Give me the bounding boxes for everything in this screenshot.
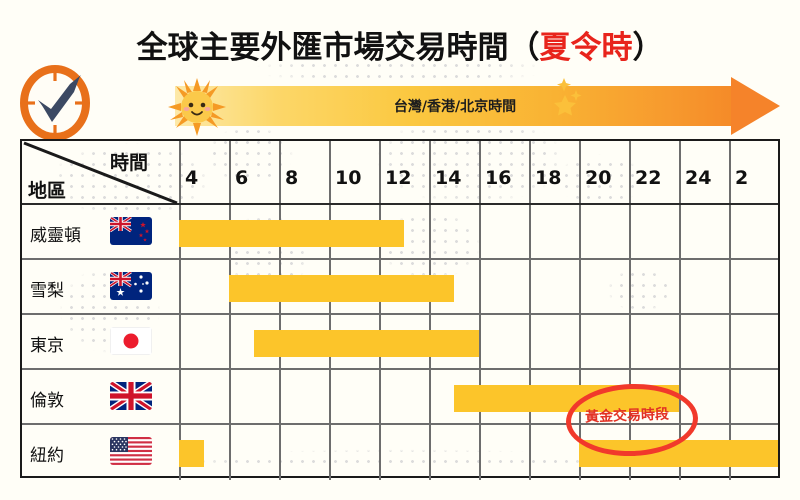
grid-vline <box>179 141 181 480</box>
hour-label-6: 6 <box>235 167 248 189</box>
grid-hline <box>22 368 778 370</box>
session-bar-tokyo <box>254 330 479 357</box>
grid-vline <box>329 141 331 480</box>
grid-hline <box>22 313 778 315</box>
infographic-root: 全球主要外匯市場交易時間（夏令時） 台灣/香港/北京時間 <box>0 0 800 500</box>
moon-icon <box>520 76 582 132</box>
row-label-wellington: 威靈頓 <box>30 221 81 246</box>
page-title-highlight: 夏令時 <box>540 30 633 66</box>
row-label-tokyo: 東京 <box>30 331 64 356</box>
grid-vline <box>279 141 281 480</box>
hour-label-18: 18 <box>535 167 561 189</box>
session-bar-wellington <box>179 220 404 247</box>
session-bar-sydney <box>229 275 454 302</box>
hour-label-24: 24 <box>685 167 711 189</box>
hour-label-22: 22 <box>635 167 661 189</box>
flag-japan <box>110 327 152 355</box>
hour-label-12: 12 <box>385 167 411 189</box>
flag-new-zealand <box>110 217 152 245</box>
time-axis-label: 時間 <box>110 148 148 175</box>
flag-australia <box>110 272 152 300</box>
row-label-newyork: 紐約 <box>30 441 64 466</box>
grid-hline <box>22 258 778 260</box>
page-title-tail: ） <box>633 30 664 66</box>
hour-label-20: 20 <box>585 167 611 189</box>
grid-vline <box>479 141 481 480</box>
grid-vline <box>729 141 731 480</box>
row-label-sydney: 雪梨 <box>30 276 64 301</box>
sun-icon <box>168 78 226 136</box>
timezone-label: 台灣/香港/北京時間 <box>175 86 735 126</box>
hour-label-8: 8 <box>285 167 298 189</box>
hour-label-10: 10 <box>335 167 361 189</box>
hour-label-2: 2 <box>735 167 748 189</box>
grid-vline <box>229 141 231 480</box>
hour-label-16: 16 <box>485 167 511 189</box>
golden-session-label: 黃金交易時段 <box>565 382 689 448</box>
flag-united-states <box>110 437 152 465</box>
corner-header-cell: 時間 地區 <box>22 141 179 205</box>
hour-label-4: 4 <box>185 167 198 189</box>
clock-check-icon <box>18 62 92 144</box>
grid-vline <box>529 141 531 480</box>
flag-united-kingdom <box>110 382 152 410</box>
hour-label-14: 14 <box>435 167 461 189</box>
grid-vline <box>379 141 381 480</box>
region-axis-label: 地區 <box>28 176 66 203</box>
right-arrow-icon <box>731 77 780 135</box>
session-bar-newyork-early <box>179 440 204 467</box>
page-title-main: 全球主要外匯市場交易時間（ <box>137 30 540 66</box>
page-title: 全球主要外匯市場交易時間（夏令時） <box>0 22 800 67</box>
grid-vline <box>429 141 431 480</box>
row-label-london: 倫敦 <box>30 386 64 411</box>
